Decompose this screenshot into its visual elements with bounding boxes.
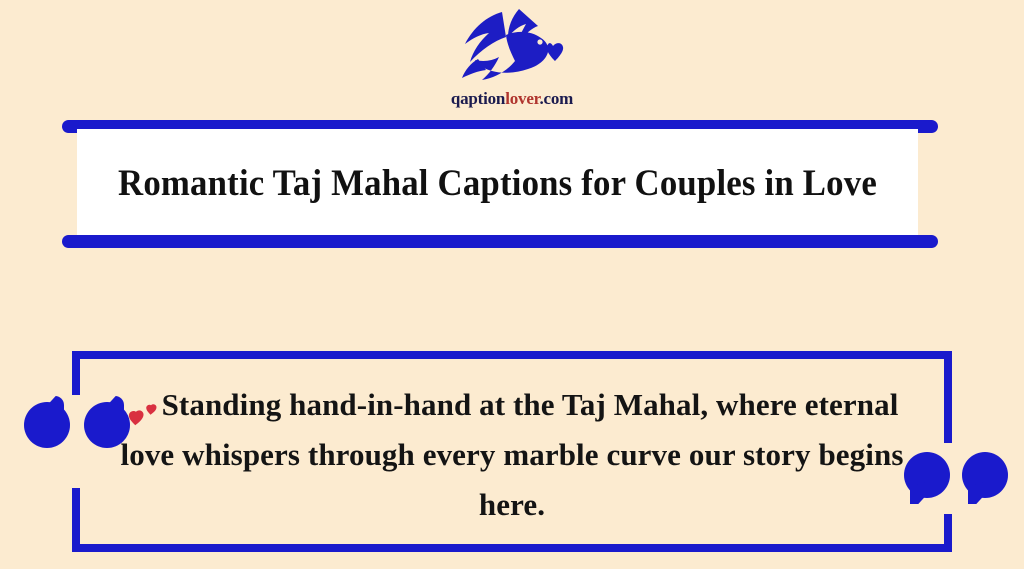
two-hearts-emoji [126, 397, 160, 425]
page-title: Romantic Taj Mahal Captions for Couples … [102, 129, 893, 239]
frame-left-lower-stub [72, 488, 80, 552]
site-logo: qaptionlover.com [0, 4, 1024, 109]
quote-line-1: Standing hand-in-hand at the Taj Mahal, … [162, 387, 797, 422]
title-band: Romantic Taj Mahal Captions for Couples … [62, 120, 938, 248]
frame-right-lower-stub [944, 514, 952, 552]
logo-wordmark-part1: qaption [451, 89, 505, 108]
frame-left-upper-stub [72, 351, 80, 395]
frame-right-upper-stub [944, 351, 952, 443]
close-quote-icon-2 [962, 452, 1008, 504]
logo-wordmark: qaptionlover.com [0, 89, 1024, 109]
open-quote-ball [24, 402, 70, 448]
title-bar-bottom [62, 235, 938, 248]
logo-wordmark-part3: .com [539, 89, 573, 108]
logo-wordmark-part2: lover [505, 89, 539, 108]
poster-canvas: qaptionlover.com Romantic Taj Mahal Capt… [0, 0, 1024, 569]
frame-bottom-rail [72, 544, 952, 552]
quote-text-block: Standing hand-in-hand at the Taj Mahal, … [112, 380, 912, 530]
open-quote-icon-1 [24, 396, 70, 448]
frame-top-rail [72, 351, 952, 359]
dove-with-heart-icon [456, 4, 568, 88]
